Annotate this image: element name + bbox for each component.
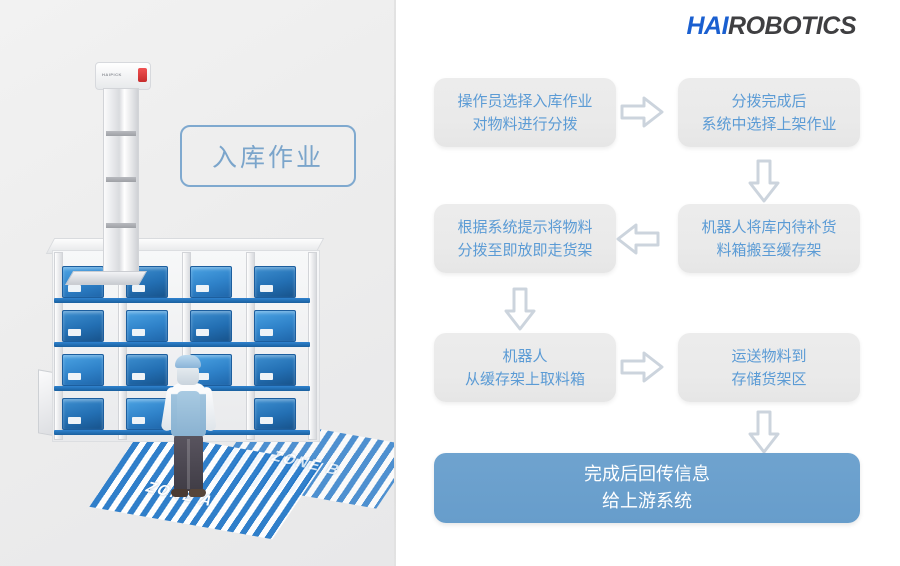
- mast-rung: [106, 177, 136, 182]
- flow-step-6-text: 运送物料到 存储货架区: [731, 345, 806, 391]
- flow-step-3[interactable]: 根据系统提示将物料 分拨至即放即走货架: [434, 204, 616, 273]
- flow-step-3-text: 根据系统提示将物料 分拨至即放即走货架: [457, 216, 592, 262]
- flow-step-5-text: 机器人 从缓存架上取料箱: [465, 345, 585, 391]
- flow-step-5[interactable]: 机器人 从缓存架上取料箱: [434, 333, 616, 402]
- storage-tote: [190, 310, 232, 342]
- shelf-rail: [54, 342, 310, 347]
- storage-tote: [190, 266, 232, 298]
- flow-step-4[interactable]: 机器人将库内待补货 料箱搬至缓存架: [678, 204, 860, 273]
- storage-tote: [62, 398, 104, 430]
- warehouse-operator-figure: [166, 355, 212, 500]
- arrow-down-icon: [746, 159, 782, 203]
- arrow-left-icon: [616, 221, 660, 257]
- robot-mast-column: [103, 88, 139, 275]
- section-title-badge: 入库作业: [180, 125, 356, 187]
- operator-legs: [174, 433, 203, 491]
- arrow-down-icon: [746, 410, 782, 454]
- storage-tote: [254, 354, 296, 386]
- robot-fork-platform: [65, 271, 147, 285]
- arrow-right-icon: [620, 94, 664, 130]
- flow-step-final-text: 完成后回传信息 给上游系统: [584, 461, 710, 515]
- flow-step-2[interactable]: 分拨完成后 系统中选择上架作业: [678, 78, 860, 147]
- robot-lift-mast: HAIPICK: [95, 62, 149, 277]
- operator-shoe-left: [171, 489, 188, 497]
- flow-step-1-text: 操作员选择入库作业 对物料进行分拨: [457, 90, 592, 136]
- operator-head: [177, 365, 199, 385]
- storage-tote: [62, 310, 104, 342]
- page-root: ZONE B ZONE A: [0, 0, 900, 566]
- arrow-right-icon: [620, 349, 664, 385]
- storage-tote: [62, 354, 104, 386]
- flow-step-2-text: 分拨完成后 系统中选择上架作业: [701, 90, 836, 136]
- storage-tote: [254, 310, 296, 342]
- flow-step-4-text: 机器人将库内待补货 料箱搬至缓存架: [701, 216, 836, 262]
- robot-brand-label: HAIPICK: [102, 72, 122, 77]
- storage-tote: [254, 266, 296, 298]
- operator-shoe-right: [189, 489, 206, 497]
- storage-tote: [126, 310, 168, 342]
- operator-cap: [175, 355, 201, 368]
- storage-tote: [254, 398, 296, 430]
- workflow-diagram: 操作员选择入库作业 对物料进行分拨 分拨完成后 系统中选择上架作业 根据系统提示…: [394, 0, 900, 566]
- storage-tote: [126, 354, 168, 386]
- mast-rung: [106, 131, 136, 136]
- mast-rung: [106, 223, 136, 228]
- operator-vest: [177, 391, 200, 436]
- warehouse-illustration-panel: ZONE B ZONE A: [0, 0, 394, 566]
- section-title-text: 入库作业: [212, 138, 324, 174]
- shelf-rail: [54, 298, 310, 303]
- arrow-down-icon: [502, 287, 538, 331]
- robot-status-indicator: [138, 68, 147, 82]
- robot-head-unit: HAIPICK: [95, 62, 151, 90]
- flow-step-6[interactable]: 运送物料到 存储货架区: [678, 333, 860, 402]
- flow-step-1[interactable]: 操作员选择入库作业 对物料进行分拨: [434, 78, 616, 147]
- flow-step-final[interactable]: 完成后回传信息 给上游系统: [434, 453, 860, 523]
